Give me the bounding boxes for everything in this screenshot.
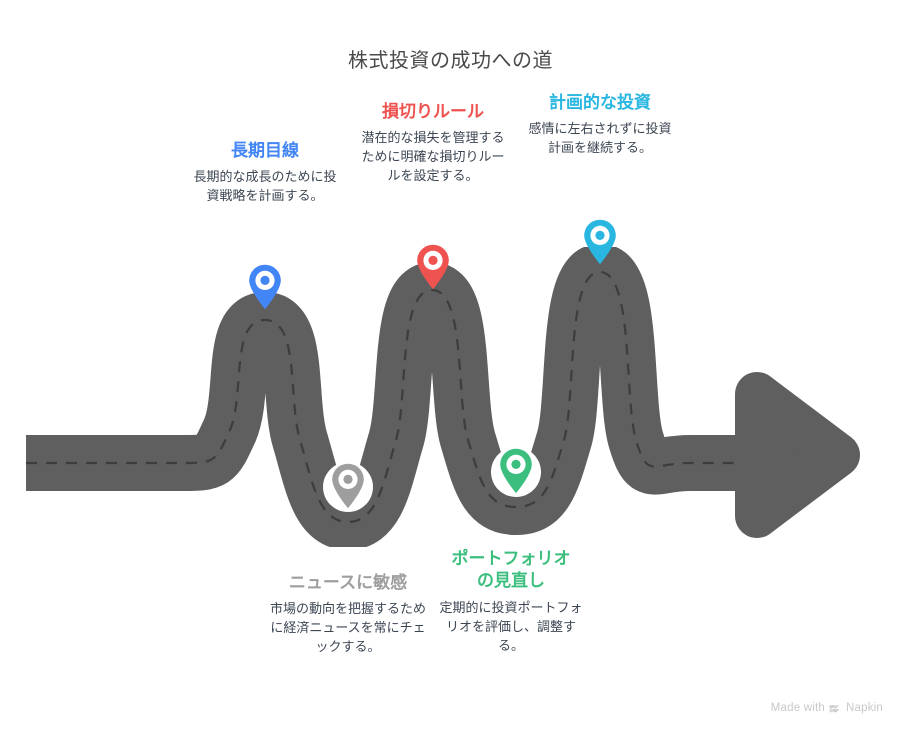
milestone-description: 定期的に投資ポートフォリオを評価し、調整する。 bbox=[436, 599, 586, 656]
milestone-callout-portfolio-review: ポートフォリオ の見直し 定期的に投資ポートフォリオを評価し、調整する。 bbox=[436, 548, 586, 655]
milestone-callout-news-sensitivity: ニュースに敏感 市場の動向を把握するために経済ニュースを常にチェックする。 bbox=[266, 572, 430, 657]
milestone-title: ポートフォリオ の見直し bbox=[436, 548, 586, 593]
watermark-brand: Napkin bbox=[846, 702, 883, 714]
map-pin-icon-long-term-view[interactable] bbox=[246, 263, 284, 311]
watermark-prefix: Made with bbox=[771, 702, 825, 714]
napkin-watermark: Made with Napkin bbox=[771, 702, 883, 714]
milestone-title: ニュースに敏感 bbox=[266, 572, 430, 594]
map-pin-icon-planned-investment[interactable] bbox=[581, 218, 619, 266]
infographic-canvas: 株式投資の成功への道 bbox=[0, 0, 901, 732]
milestone-callout-stop-loss-rule: 損切りルール 潜在的な損失を管理するために明確な損切りルールを設定する。 bbox=[358, 101, 508, 186]
milestone-description: 長期的な成長のために投資戦略を計画する。 bbox=[192, 168, 338, 206]
napkin-logo-icon bbox=[829, 703, 842, 714]
milestone-title: 長期目線 bbox=[192, 140, 338, 162]
milestone-description: 感情に左右されずに投資計画を継続する。 bbox=[524, 120, 676, 158]
map-pin-icon-stop-loss-rule[interactable] bbox=[414, 243, 452, 291]
milestone-callout-planned-investment: 計画的な投資 感情に左右されずに投資計画を継続する。 bbox=[524, 92, 676, 158]
milestone-description: 市場の動向を把握するために経済ニュースを常にチェックする。 bbox=[266, 600, 430, 657]
milestone-callout-long-term-view: 長期目線 長期的な成長のために投資戦略を計画する。 bbox=[192, 140, 338, 206]
road-arrow-icon bbox=[757, 394, 838, 516]
milestone-title: 損切りルール bbox=[358, 101, 508, 123]
milestone-description: 潜在的な損失を管理するために明確な損切りルールを設定する。 bbox=[358, 129, 508, 186]
map-pin-icon-portfolio-review[interactable] bbox=[497, 447, 535, 495]
road-body bbox=[26, 272, 790, 522]
map-pin-icon-news-sensitivity[interactable] bbox=[329, 462, 367, 510]
milestone-title: 計画的な投資 bbox=[524, 92, 676, 114]
